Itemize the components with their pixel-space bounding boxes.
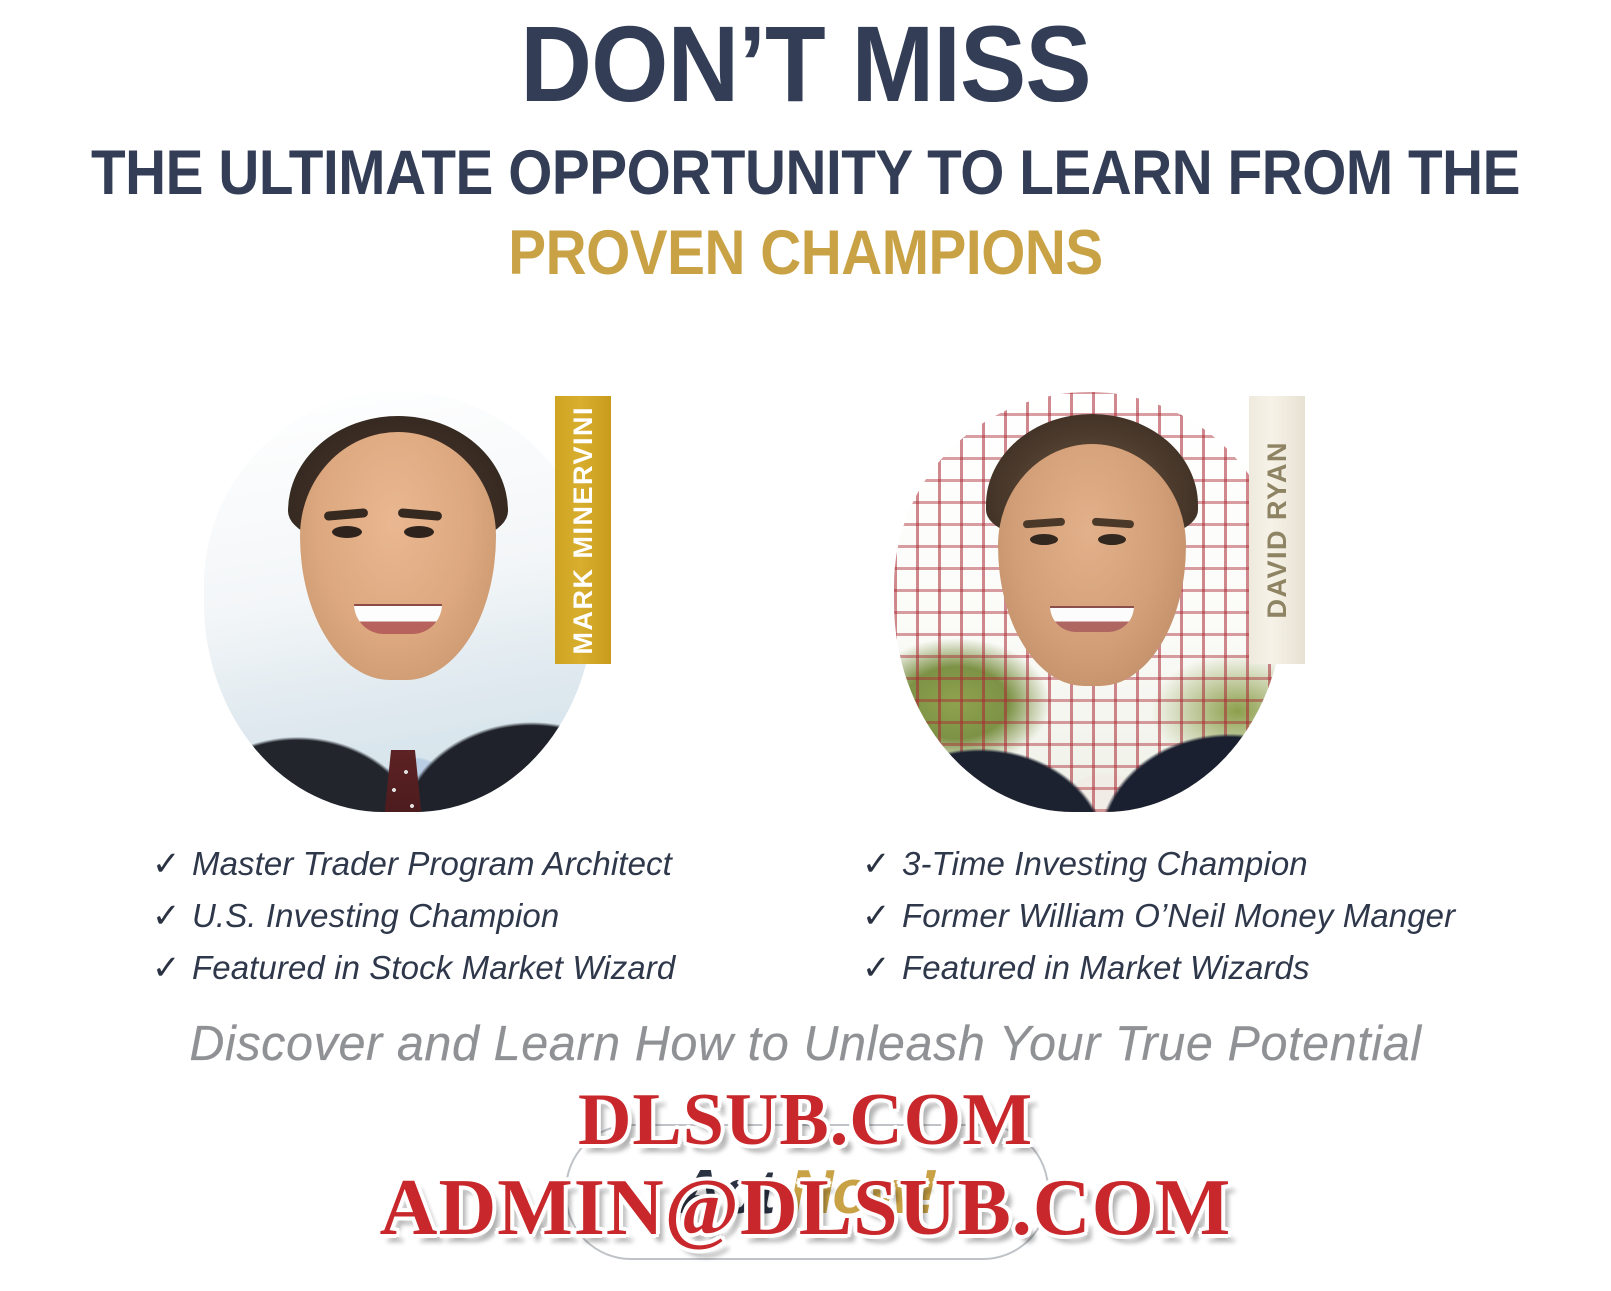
necktie-shape bbox=[380, 750, 426, 812]
portrait-image-mark bbox=[204, 392, 594, 812]
headline-line-3-accent: PROVEN CHAMPIONS bbox=[81, 218, 1531, 288]
credentials-list-david-ryan: ✓ 3-Time Investing Champion ✓ Former Wil… bbox=[862, 845, 1455, 1001]
portrait-image-david bbox=[894, 392, 1284, 812]
list-item: ✓ 3-Time Investing Champion bbox=[862, 845, 1455, 883]
list-item: ✓ Featured in Stock Market Wizard bbox=[152, 949, 675, 987]
champion-card-david-ryan: DAVID RYAN bbox=[858, 378, 1328, 828]
face-shape bbox=[998, 444, 1186, 686]
list-item-label: U.S. Investing Champion bbox=[192, 897, 559, 935]
eye-right bbox=[1098, 534, 1126, 545]
list-item-label: 3-Time Investing Champion bbox=[902, 845, 1308, 883]
eye-right bbox=[404, 526, 434, 538]
check-icon: ✓ bbox=[862, 847, 902, 881]
champions-row: MARK MINERVINI DAVID RYAN bbox=[0, 378, 1611, 848]
check-icon: ✓ bbox=[152, 951, 192, 985]
credentials-list-mark-minervini: ✓ Master Trader Program Architect ✓ U.S.… bbox=[152, 845, 675, 1001]
list-item: ✓ U.S. Investing Champion bbox=[152, 897, 675, 935]
name-banner-mark-minervini: MARK MINERVINI bbox=[555, 396, 611, 664]
headline-line-1: DON’T MISS bbox=[64, 8, 1546, 120]
eye-left bbox=[1030, 534, 1058, 545]
list-item-label: Master Trader Program Architect bbox=[192, 845, 672, 883]
headline-block: DON’T MISS THE ULTIMATE OPPORTUNITY TO L… bbox=[0, 0, 1611, 288]
face-shape bbox=[300, 432, 496, 680]
list-item-label: Featured in Stock Market Wizard bbox=[192, 949, 675, 987]
list-item: ✓ Featured in Market Wizards bbox=[862, 949, 1455, 987]
tagline: Discover and Learn How to Unleash Your T… bbox=[8, 1016, 1603, 1072]
cta-label: ActNow! bbox=[678, 1157, 936, 1228]
portrait-david-ryan bbox=[894, 392, 1284, 812]
check-icon: ✓ bbox=[862, 951, 902, 985]
headline-line-2: THE ULTIMATE OPPORTUNITY TO LEARN FROM T… bbox=[81, 138, 1531, 208]
cta-label-accent: Now! bbox=[789, 1158, 937, 1227]
list-item: ✓ Master Trader Program Architect bbox=[152, 845, 675, 883]
portrait-mark-minervini bbox=[204, 392, 594, 812]
list-item-label: Former William O’Neil Money Manger bbox=[902, 897, 1455, 935]
check-icon: ✓ bbox=[152, 847, 192, 881]
name-banner-label: MARK MINERVINI bbox=[568, 406, 599, 655]
name-banner-label: DAVID RYAN bbox=[1262, 441, 1293, 619]
champion-card-mark-minervini: MARK MINERVINI bbox=[168, 378, 638, 828]
list-item: ✓ Former William O’Neil Money Manger bbox=[862, 897, 1455, 935]
act-now-button[interactable]: ActNow! bbox=[565, 1124, 1049, 1260]
name-banner-david-ryan: DAVID RYAN bbox=[1249, 396, 1305, 664]
eye-left bbox=[332, 526, 362, 538]
check-icon: ✓ bbox=[152, 899, 192, 933]
list-item-label: Featured in Market Wizards bbox=[902, 949, 1310, 987]
smile-shape bbox=[1050, 606, 1134, 632]
check-icon: ✓ bbox=[862, 899, 902, 933]
cta-label-primary: Act bbox=[678, 1158, 775, 1227]
